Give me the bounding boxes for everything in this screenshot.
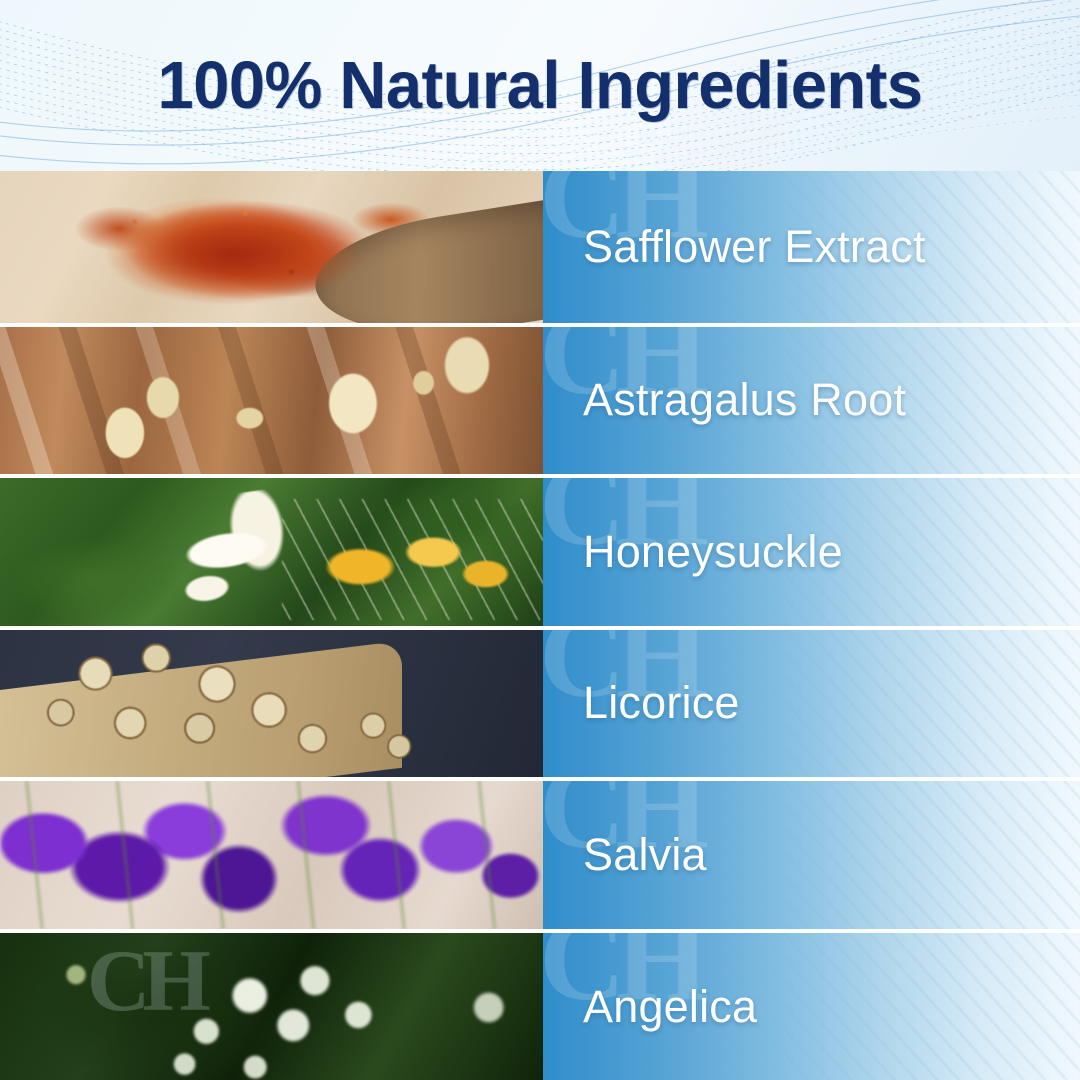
ingredient-name: Salvia [583, 781, 707, 929]
ingredient-label-panel: CH Safflower Extract [543, 171, 1080, 323]
ingredient-row[interactable]: CH Salvia [0, 777, 1080, 929]
ingredient-row[interactable]: CH Honeysuckle [0, 474, 1080, 626]
ingredient-label-panel: CH Astragalus Root [543, 327, 1080, 475]
ingredient-name: Angelica [583, 933, 757, 1080]
ingredient-name: Honeysuckle [583, 478, 843, 626]
ingredient-label-panel: CH Honeysuckle [543, 478, 1080, 626]
ingredient-row[interactable]: CH Licorice [0, 626, 1080, 778]
ingredient-label-panel: CH Salvia [543, 781, 1080, 929]
licorice-photo [0, 630, 543, 778]
ingredients-infographic: 100% Natural Ingredients CH Safflower Ex… [0, 0, 1080, 1080]
ingredient-list: CH Safflower Extract CH Astragalus Root … [0, 171, 1080, 1080]
safflower-photo [0, 171, 543, 323]
ingredient-image-licorice [0, 630, 543, 778]
honeysuckle-photo [0, 478, 543, 626]
ingredient-image-angelica: CH [0, 933, 543, 1080]
ingredient-image-astragalus [0, 327, 543, 475]
ingredient-label-panel: CH Angelica [543, 933, 1080, 1080]
angelica-photo [0, 933, 543, 1080]
salvia-photo [0, 781, 543, 929]
ingredient-row[interactable]: CH Astragalus Root [0, 323, 1080, 475]
ingredient-image-safflower [0, 171, 543, 323]
ingredient-row[interactable]: CH CH Angelica [0, 929, 1080, 1080]
ingredient-label-panel: CH Licorice [543, 630, 1080, 778]
ingredient-image-salvia [0, 781, 543, 929]
ingredient-row[interactable]: CH Safflower Extract [0, 171, 1080, 323]
ingredient-name: Safflower Extract [583, 171, 926, 323]
page-title: 100% Natural Ingredients [16, 0, 1064, 171]
ingredient-name: Licorice [583, 630, 740, 778]
ingredient-image-honeysuckle [0, 478, 543, 626]
header-banner: 100% Natural Ingredients [0, 0, 1080, 171]
ingredient-name: Astragalus Root [583, 327, 906, 475]
astragalus-photo [0, 327, 543, 475]
